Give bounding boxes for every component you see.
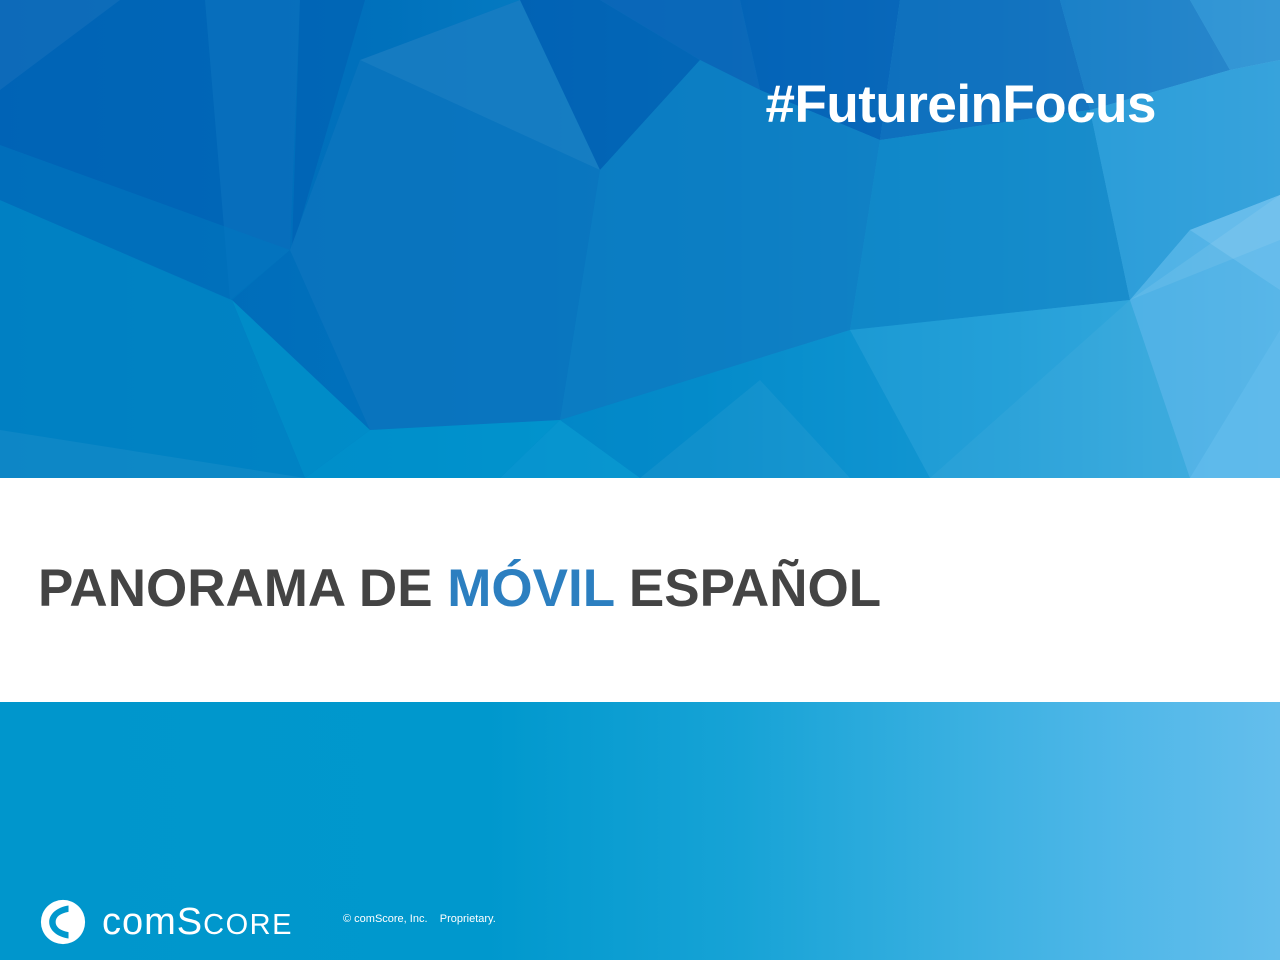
wordmark-com: com [102,901,177,943]
wordmark-core: CORE [203,909,293,941]
copyright-notice: © comScore, Inc. Proprietary. [343,914,496,925]
event-hashtag: #FutureinFocus [0,78,1156,131]
comscore-wordmark: comSCORE [102,903,293,941]
comscore-logo: comSCORE [40,898,293,946]
comscore-mark-icon [40,899,86,945]
page-title-suffix: ESPAÑOL [614,559,881,618]
page-title: PANORAMA DE MÓVIL ESPAÑOL [38,562,881,615]
low-poly-background-graphic [0,0,1280,478]
hero-band: #FutureinFocus [0,0,1280,478]
page-title-prefix: PANORAMA DE [38,559,447,618]
wordmark-s: S [177,901,203,943]
footer-band: comSCORE © comScore, Inc. Proprietary. [0,702,1280,960]
presentation-slide: #FutureinFocus PANORAMA DE MÓVIL ESPAÑOL… [0,0,1280,960]
page-title-highlight: MÓVIL [447,559,614,618]
title-band: PANORAMA DE MÓVIL ESPAÑOL [0,478,1280,702]
